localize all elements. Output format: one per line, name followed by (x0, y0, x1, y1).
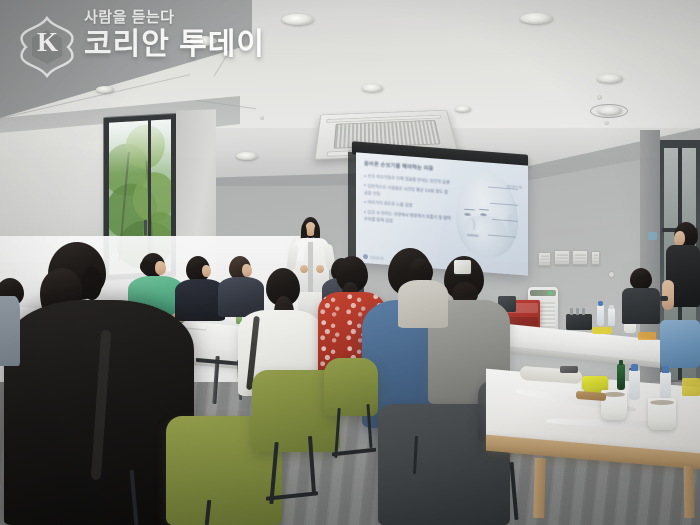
face-diagram: 얼굴 접촉 부위 (448, 169, 522, 263)
bullet-dot (364, 201, 366, 203)
spray-bottle (597, 305, 604, 326)
downlight (96, 86, 114, 93)
sprinkler-head (604, 121, 609, 125)
attendee-arm (662, 280, 674, 310)
wood-table-leg (684, 466, 695, 518)
orange-card (638, 332, 656, 340)
switch-knob (570, 308, 573, 315)
yellow-card (682, 378, 700, 396)
bullet-dot (364, 175, 366, 177)
spray-bottle (608, 308, 615, 326)
sprinkler-head (597, 95, 602, 100)
wood-table-leg (533, 458, 546, 518)
hair-clip (454, 260, 471, 274)
downlight (282, 14, 314, 25)
downlight (597, 74, 623, 83)
bullet-dot (364, 184, 366, 186)
wall-switch-panel[interactable] (591, 251, 600, 265)
slide-bullet: 입과 코 만지는 과정에서 병원체가 호흡기 및 점막 부위를 통해 감염 (364, 209, 451, 223)
attendee-partial (0, 296, 20, 366)
wall-sensor (609, 272, 614, 277)
sprinkler-head (260, 116, 264, 120)
downlight (236, 152, 258, 160)
attendee-jeans (660, 320, 700, 368)
wall-switch-panel[interactable] (538, 252, 551, 266)
window-latch (648, 232, 657, 240)
downlight (520, 13, 553, 24)
switch-knob (582, 308, 585, 315)
downlight (455, 106, 471, 112)
equipment-case (566, 314, 592, 330)
paper-cup (648, 398, 676, 430)
small-device (560, 366, 578, 373)
spray-bottle (660, 372, 671, 400)
attendee-body (622, 288, 660, 324)
face-nose (468, 218, 475, 231)
downlight (362, 84, 383, 92)
face-ear (508, 214, 517, 230)
attendee-head (262, 268, 304, 316)
attendee-beige-top (398, 280, 448, 328)
wall-switch-panel[interactable] (554, 250, 570, 265)
wristwatch (660, 296, 668, 301)
bullet-dot (364, 211, 366, 213)
slide-bullets: 손의 피부각질로 인해 얼굴을 만지는 인간의 습관 일반적으로 사람들은 시간… (364, 172, 451, 228)
switch-knob (576, 308, 579, 315)
spray-bottle (629, 370, 640, 400)
slide-bullet: 일반적으로 사람들은 시간당 평균 3.6회 정도 얼굴을 만짐 (364, 183, 448, 196)
downlight (189, 36, 217, 46)
seminar-photo: 올바른 손씻기를 해야하는 이유 손의 피부각질로 인해 얼굴을 만지는 인간의… (0, 0, 700, 525)
yellow-container (592, 327, 612, 334)
window-handle[interactable] (144, 220, 147, 236)
green-bottle (617, 364, 625, 390)
downlight (598, 106, 622, 115)
slide-bullet: 여러가지 경로로 노출 감염 (368, 199, 413, 207)
chair-olive[interactable] (324, 358, 378, 416)
wall-switch-panel[interactable] (572, 250, 588, 265)
presenter-hand (316, 265, 324, 273)
window-glare (109, 119, 171, 174)
face-eye (464, 213, 471, 217)
face-eye (480, 213, 487, 217)
